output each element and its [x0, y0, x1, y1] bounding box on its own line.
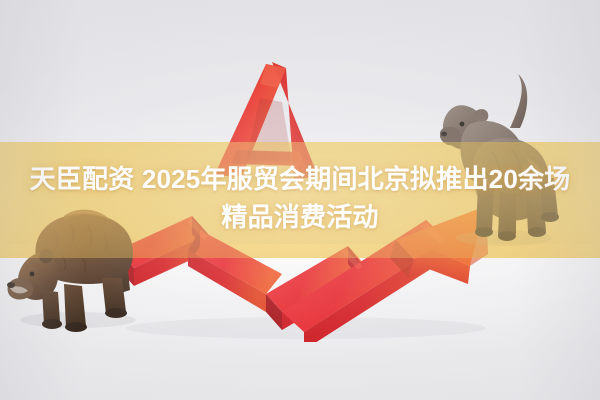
bear-figurine [2, 186, 150, 332]
bull-figurine [440, 66, 578, 248]
thumbnail-image: 天臣配资 2025年服贸会期间北京拟推出20余场 精品消费活动 [0, 0, 600, 400]
red-triangle-arrow-tip [196, 58, 344, 182]
